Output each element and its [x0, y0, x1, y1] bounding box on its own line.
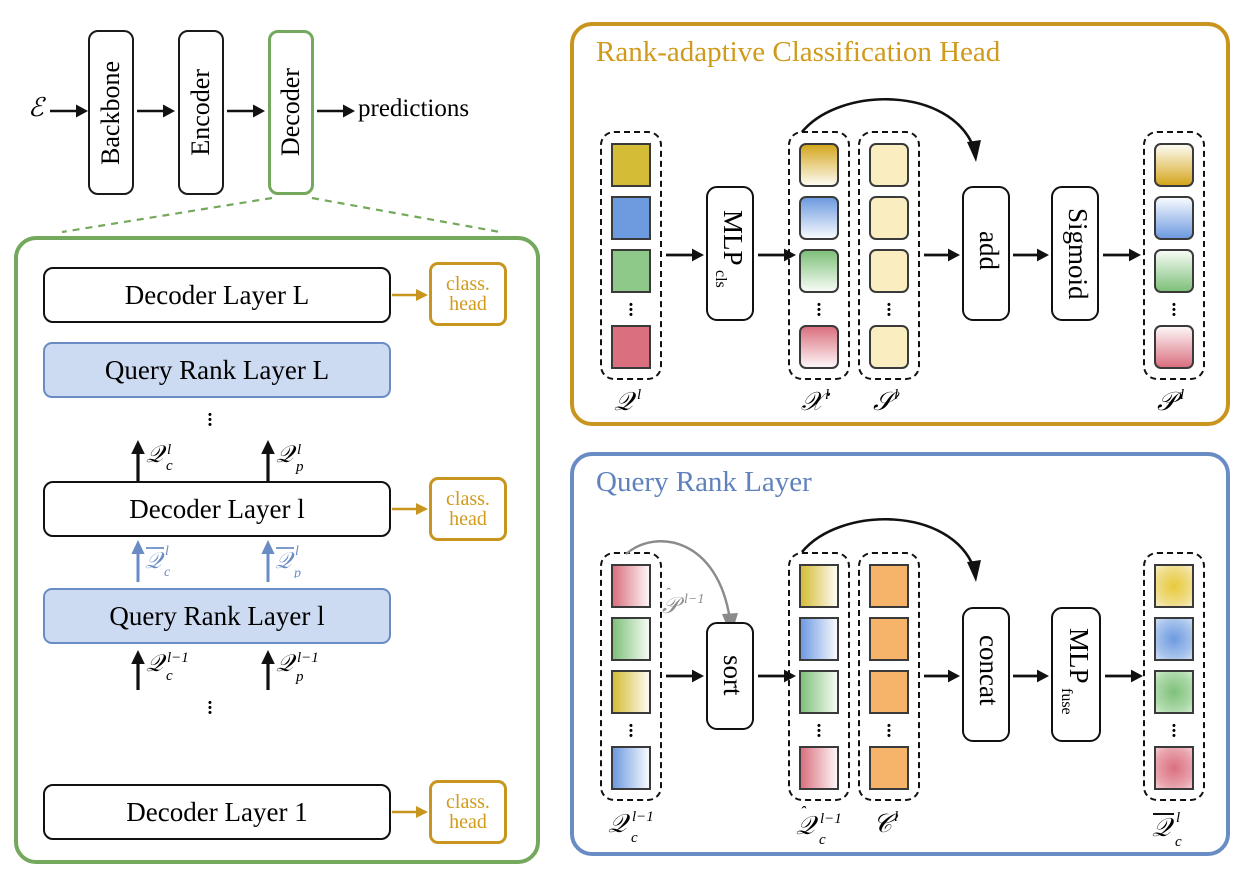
class-head-L-line1: class. [446, 274, 490, 294]
class-head-1-line2: head [449, 812, 487, 832]
vertical-dots-upper: ··· [200, 412, 220, 427]
arrow-C-to-concat [924, 666, 960, 686]
cell-Qcbar-1 [1154, 617, 1194, 661]
label-qpbar-glyph: 𝒬 l p [275, 538, 327, 578]
arrow-decoderL-to-head [392, 285, 428, 305]
svg-text:concat: concat [974, 635, 1004, 706]
label-Qc-prev-col: 𝒬 l−1 c [608, 806, 678, 846]
cell-Qcprev-2 [611, 670, 651, 714]
query-rank-layer-L-label: Query Rank Layer L [105, 355, 329, 386]
label-qp-out-glyph: 𝒬 l p [276, 440, 324, 474]
svg-text:p: p [293, 566, 301, 578]
svg-text:c: c [631, 830, 638, 846]
svg-text:𝒬: 𝒬 [145, 548, 165, 573]
label-C-glyph: 𝒞 l [873, 806, 915, 840]
svg-text:sort: sort [718, 655, 748, 696]
op-sort[interactable]: sort [706, 622, 754, 730]
cell-Qcbar-3 [1154, 746, 1194, 790]
cell-C-2 [869, 670, 909, 714]
dots-P: ··· [1164, 302, 1184, 317]
cell-Q-0 [611, 143, 651, 187]
svg-text:l: l [167, 442, 171, 458]
svg-text:fuse: fuse [1058, 688, 1075, 715]
svg-text:c: c [164, 565, 171, 578]
svg-text:add: add [974, 231, 1004, 270]
svg-text:̂: ̂ [801, 806, 807, 809]
label-S: 𝒮 l [873, 385, 915, 417]
op-add-glyph: add [965, 189, 1011, 322]
class-head-1-line1: class. [446, 792, 490, 812]
label-qp-prev-glyph: 𝒬 l−1 p [276, 648, 346, 684]
query-rank-layer-l-label: Query Rank Layer l [109, 601, 324, 632]
cell-P-2 [1154, 249, 1194, 293]
svg-text:MLP: MLP [1064, 628, 1094, 684]
decoder-layer-1-label: Decoder Layer 1 [126, 797, 307, 828]
arrow-mlpfuse-to-Qcbar [1105, 666, 1143, 686]
class-head-l-line1: class. [446, 489, 490, 509]
cell-S-3 [869, 325, 909, 369]
arrow-decoderl-to-head [392, 499, 428, 519]
svg-text:̂: ̂ [666, 588, 671, 590]
svg-text:l: l [1176, 810, 1180, 826]
decoder-layer-l-label: Decoder Layer l [129, 494, 304, 525]
label-Phat-prev: 𝒫 ̂ l−1 [660, 588, 732, 622]
cell-Qcprev-3 [611, 746, 651, 790]
label-Qc-bar-col-glyph: 𝒬 l c [1152, 804, 1212, 850]
label-qcbar-glyph: 𝒬 l c [145, 538, 197, 578]
op-sort-glyph: sort [709, 625, 755, 731]
label-C: 𝒞 l [873, 806, 915, 840]
cell-Q-1 [611, 196, 651, 240]
svg-text:l−1: l−1 [684, 592, 704, 607]
cell-S-2 [869, 249, 909, 293]
arrow-sigmoid-to-P [1103, 245, 1141, 265]
cell-P-0 [1154, 143, 1194, 187]
class-head-L[interactable]: class. head [429, 262, 507, 326]
cell-T-2 [799, 249, 839, 293]
op-mlp-fuse[interactable]: MLP fuse [1051, 607, 1101, 742]
op-mlp-cls[interactable]: MLP cls [706, 186, 754, 321]
svg-text:𝒬: 𝒬 [276, 442, 297, 468]
cell-Q-2 [611, 249, 651, 293]
op-concat-inner: concat [964, 609, 1012, 744]
op-sort-inner: sort [708, 624, 756, 732]
op-concat-glyph: concat [965, 610, 1011, 743]
label-qp-prev: 𝒬 l−1 p [276, 648, 346, 684]
dots-T: ··· [809, 302, 829, 317]
svg-text:𝒫: 𝒫 [662, 593, 685, 618]
dots-Qcbar: ··· [1164, 723, 1184, 738]
op-sigmoid-glyph: Sigmoid [1054, 189, 1100, 322]
arrow-concat-to-mlpfuse [1013, 666, 1049, 686]
label-T-glyph: 𝒳 l [801, 385, 843, 417]
op-mlp-fuse-glyph: MLP fuse [1054, 610, 1102, 743]
op-mlp-cls-inner: MLP cls [708, 188, 756, 323]
label-Q-glyph: 𝒬 l [614, 385, 656, 417]
label-qc-prev-glyph: 𝒬 l−1 c [146, 648, 216, 684]
svg-text:p: p [295, 459, 304, 474]
zoom-connector-lines [0, 0, 560, 240]
label-Q: 𝒬 l [614, 385, 656, 417]
cell-Qcbar-2 [1154, 670, 1194, 714]
cell-Qcbar-0 [1154, 564, 1194, 608]
svg-text:𝒬: 𝒬 [146, 442, 167, 468]
svg-text:c: c [819, 832, 826, 848]
arrow-qc-prev-in [128, 650, 148, 690]
class-head-1[interactable]: class. head [429, 780, 507, 844]
label-Qc-hat-col: 𝒬 ̂ l−1 c [796, 806, 868, 848]
decoder-layer-L[interactable]: Decoder Layer L [43, 267, 391, 323]
label-Qc-bar-col: 𝒬 l c [1152, 804, 1212, 850]
op-sigmoid-inner: Sigmoid [1053, 188, 1101, 323]
svg-text:l: l [894, 809, 898, 825]
label-P: 𝒫 l [1157, 385, 1199, 417]
op-concat[interactable]: concat [962, 607, 1010, 742]
label-qpbar: 𝒬 l p [275, 538, 327, 578]
qrl-panel-title: Query Rank Layer [596, 466, 812, 499]
cell-Qchat-3 [799, 746, 839, 790]
op-mlp-cls-glyph: MLP cls [709, 189, 755, 322]
op-add-inner: add [964, 188, 1012, 323]
class-head-L-line2: head [449, 294, 487, 314]
svg-text:𝒬: 𝒬 [796, 811, 819, 840]
svg-text:𝒬: 𝒬 [146, 651, 167, 677]
svg-text:MLP: MLP [718, 210, 748, 266]
svg-text:l: l [295, 544, 299, 559]
svg-text:l−1: l−1 [297, 650, 319, 666]
dots-C: ··· [879, 723, 899, 738]
cell-Qchat-2 [799, 670, 839, 714]
svg-text:Sigmoid: Sigmoid [1063, 208, 1093, 300]
arrow-qc-out [128, 440, 148, 482]
svg-text:c: c [1175, 834, 1182, 850]
decoder-layer-1[interactable]: Decoder Layer 1 [43, 784, 391, 840]
label-qc-out: 𝒬 l c [146, 440, 194, 474]
vertical-dots-lower: ··· [200, 700, 220, 715]
class-head-l-line2: head [449, 509, 487, 529]
svg-text:l−1: l−1 [632, 809, 654, 825]
arrow-Qcprev-to-sort [666, 666, 704, 686]
svg-text:cls: cls [712, 270, 729, 288]
arrow-add-to-sigmoid [1013, 245, 1049, 265]
decoder-layer-L-label: Decoder Layer L [125, 280, 309, 311]
svg-text:𝒬: 𝒬 [276, 651, 297, 677]
cell-Q-3 [611, 325, 651, 369]
label-Qc-hat-col-glyph: 𝒬 ̂ l−1 c [796, 806, 868, 848]
svg-text:c: c [166, 668, 173, 684]
class-head-l[interactable]: class. head [429, 477, 507, 541]
label-Phat-prev-glyph: 𝒫 ̂ l−1 [660, 588, 732, 622]
overview-pipeline: ℰ Backbone Encoder Decoder predictions [0, 0, 560, 220]
cell-P-1 [1154, 196, 1194, 240]
cls-head-panel-title: Rank-adaptive Classification Head [596, 36, 1000, 69]
label-qcbar: 𝒬 l c [145, 538, 197, 578]
svg-text:𝒬: 𝒬 [608, 809, 631, 838]
svg-text:c: c [166, 458, 173, 474]
op-sigmoid[interactable]: Sigmoid [1051, 186, 1099, 321]
svg-text:l: l [825, 387, 829, 403]
query-rank-layer-L[interactable]: Query Rank Layer L [43, 342, 391, 398]
decoder-layer-l[interactable]: Decoder Layer l [43, 481, 391, 537]
cell-C-3 [869, 746, 909, 790]
arrow-decoder1-to-head [392, 802, 428, 822]
label-T: 𝒳 l [801, 385, 843, 417]
label-qp-out: 𝒬 l p [276, 440, 324, 474]
op-mlp-fuse-inner: MLP fuse [1053, 609, 1103, 744]
arrow-Q-to-mlpcls [666, 245, 704, 265]
svg-text:l: l [297, 442, 301, 458]
svg-text:l−1: l−1 [820, 811, 842, 827]
arrow-S-to-add [924, 245, 960, 265]
svg-text:𝒬: 𝒬 [1152, 813, 1175, 842]
op-add[interactable]: add [962, 186, 1010, 321]
label-Qc-prev-col-glyph: 𝒬 l−1 c [608, 806, 678, 846]
cell-P-3 [1154, 325, 1194, 369]
cell-T-3 [799, 325, 839, 369]
arrow-qp-out [258, 440, 278, 482]
query-rank-layer-l[interactable]: Query Rank Layer l [43, 588, 391, 644]
dots-Q: ··· [621, 302, 641, 317]
arrow-qp-prev-in [258, 650, 278, 690]
dots-Qchat: ··· [809, 723, 829, 738]
svg-text:l: l [1180, 387, 1184, 403]
svg-text:𝒬: 𝒬 [614, 387, 637, 416]
label-qc-out-glyph: 𝒬 l c [146, 440, 194, 474]
svg-text:𝒬: 𝒬 [275, 548, 295, 573]
dots-Qcprev: ··· [621, 723, 641, 738]
label-P-glyph: 𝒫 l [1157, 385, 1199, 417]
label-S-glyph: 𝒮 l [873, 385, 915, 417]
svg-text:p: p [295, 669, 304, 684]
dots-S: ··· [879, 302, 899, 317]
svg-text:l: l [894, 387, 898, 403]
svg-text:l−1: l−1 [167, 650, 189, 666]
label-qc-prev: 𝒬 l−1 c [146, 648, 216, 684]
svg-text:l: l [637, 387, 641, 403]
svg-text:l: l [165, 544, 169, 559]
